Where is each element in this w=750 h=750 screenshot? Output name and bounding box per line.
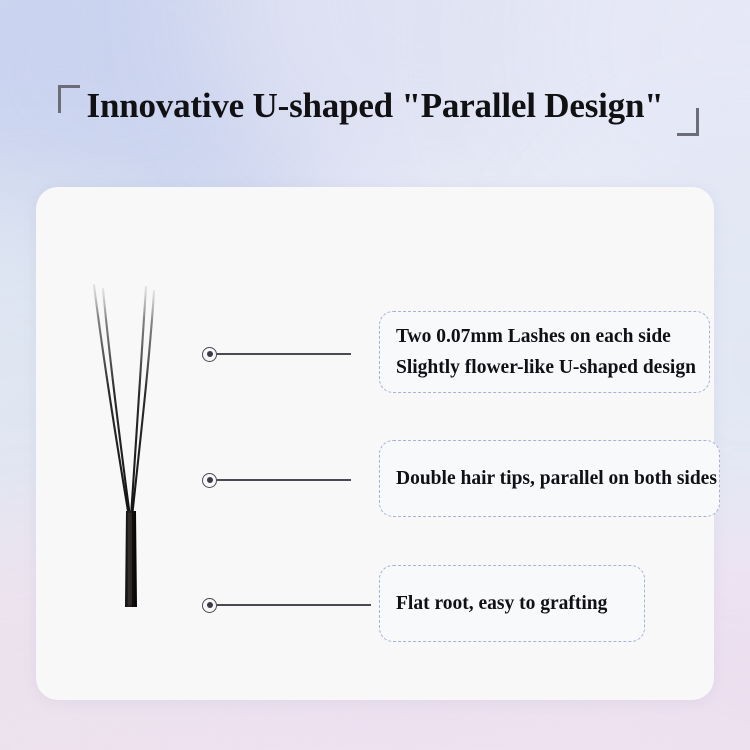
feature-3-line-1: Flat root, easy to grafting — [396, 588, 628, 619]
feature-2-line-1: Double hair tips, parallel on both sides — [396, 463, 703, 494]
feature-1-line-2: Slightly flower-like U-shaped design — [396, 352, 693, 383]
feature-box-3: Flat root, easy to grafting — [379, 565, 645, 642]
poster-canvas: Innovative U-shaped "Parallel Design" — [0, 0, 750, 750]
bullet-marker-1-icon — [202, 347, 217, 362]
bullet-marker-3-icon — [202, 598, 217, 613]
page-title: Innovative U-shaped "Parallel Design" — [0, 82, 750, 130]
feature-1-line-1: Two 0.07mm Lashes on each side — [396, 321, 693, 352]
feature-box-1: Two 0.07mm Lashes on each side Slightly … — [379, 311, 710, 393]
lead-line-3 — [217, 604, 371, 606]
content-card: Two 0.07mm Lashes on each side Slightly … — [36, 187, 714, 700]
bullet-marker-2-icon — [202, 473, 217, 488]
connector-1 — [202, 345, 351, 363]
lead-line-1 — [217, 353, 351, 355]
u-shaped-lash-fan-illustration — [82, 279, 222, 629]
title-block: Innovative U-shaped "Parallel Design" — [0, 82, 750, 154]
feature-box-2: Double hair tips, parallel on both sides — [379, 440, 720, 517]
connector-2 — [202, 471, 351, 489]
connector-3 — [202, 596, 371, 614]
lead-line-2 — [217, 479, 351, 481]
